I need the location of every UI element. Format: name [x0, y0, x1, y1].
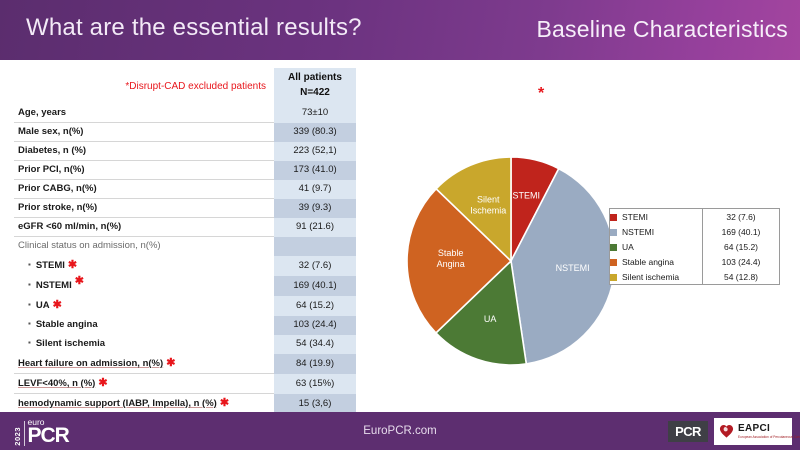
eapci-label: EAPCI	[738, 424, 800, 434]
row-label: Heart failure on admission, n(%) ✱	[14, 354, 274, 374]
row-label: Diabetes, n (%)	[14, 142, 274, 161]
baseline-characteristics-table: *Disrupt-CAD excluded patients All patie…	[14, 68, 356, 414]
footnote-asterisk-marker: *	[538, 86, 544, 102]
row-label: LEVF<40%, n (%) ✱	[14, 374, 274, 394]
row-label: Clinical status on admission, n(%)	[14, 237, 274, 256]
legend-row: NSTEMI169 (40.1)	[610, 224, 779, 239]
table-row: Stable angina103 (24.4)	[14, 316, 356, 335]
row-value: 103 (24.4)	[274, 316, 356, 335]
table-row: STEMI ✱32 (7.6)	[14, 256, 356, 276]
legend-value: 169 (40.1)	[703, 224, 780, 239]
legend-label-text: Silent ischemia	[622, 272, 679, 282]
row-value: 41 (9.7)	[274, 180, 356, 199]
pie-slice-label: NSTEMI	[556, 263, 590, 273]
table-header-row: *Disrupt-CAD excluded patients All patie…	[14, 68, 356, 104]
row-label-text: NSTEMI	[36, 280, 72, 291]
asterisk-icon: ✱	[65, 259, 77, 271]
row-label-text: UA	[36, 300, 50, 311]
row-value: 39 (9.3)	[274, 199, 356, 218]
row-value: 64 (15.2)	[274, 296, 356, 316]
row-label-text: hemodynamic support (IABP, Impella), n (…	[18, 398, 217, 409]
row-label: hemodynamic support (IABP, Impella), n (…	[14, 394, 274, 414]
row-label: STEMI ✱	[14, 256, 274, 276]
legend-swatch-icon	[610, 229, 617, 236]
legend-label-text: NSTEMI	[622, 227, 654, 237]
table-row: NSTEMI ✱169 (40.1)	[14, 276, 356, 296]
legend-swatch-icon	[610, 259, 617, 266]
table-row: Heart failure on admission, n(%) ✱84 (19…	[14, 354, 356, 374]
page-title: What are the essential results?	[26, 14, 362, 42]
legend-value: 103 (24.4)	[703, 254, 780, 269]
legend-row: STEMI32 (7.6)	[610, 209, 779, 224]
table-row: Male sex, n(%)339 (80.3)	[14, 123, 356, 142]
row-label-text: Prior PCI, n(%)	[18, 164, 85, 175]
legend-value: 64 (15.2)	[703, 239, 780, 254]
asterisk-icon: ✱	[72, 275, 84, 287]
excluded-patients-note: *Disrupt-CAD excluded patients	[14, 68, 274, 104]
pcr-partner-logo: PCR	[668, 421, 708, 442]
eapci-sublabel: European Association of Percutaneous Car…	[738, 436, 800, 439]
pcr-partner-label: PCR	[675, 424, 701, 439]
pie-legend: STEMI32 (7.6)NSTEMI169 (40.1)UA64 (15.2)…	[609, 208, 780, 285]
legend-label: STEMI	[610, 209, 703, 224]
legend-swatch-icon	[610, 274, 617, 281]
pie-legend-table: STEMI32 (7.6)NSTEMI169 (40.1)UA64 (15.2)…	[610, 209, 779, 284]
legend-label-text: UA	[622, 242, 634, 252]
row-label: Age, years	[14, 104, 274, 123]
row-label: Silent ischemia	[14, 335, 274, 354]
column-header-line2: N=422	[274, 86, 356, 101]
row-value: 32 (7.6)	[274, 256, 356, 276]
row-value: 84 (19.9)	[274, 354, 356, 374]
row-label-text: eGFR <60 ml/min, n(%)	[18, 221, 121, 232]
row-value	[274, 237, 356, 256]
legend-label: NSTEMI	[610, 224, 703, 239]
legend-row: UA64 (15.2)	[610, 239, 779, 254]
table-row: LEVF<40%, n (%) ✱63 (15%)	[14, 374, 356, 394]
row-value: 63 (15%)	[274, 374, 356, 394]
row-value: 15 (3,6)	[274, 394, 356, 414]
row-label: UA ✱	[14, 296, 274, 316]
table-row: Clinical status on admission, n(%)	[14, 237, 356, 256]
column-header-line1: All patients	[274, 71, 356, 86]
legend-label: UA	[610, 239, 703, 254]
row-value: 54 (34.4)	[274, 335, 356, 354]
slide-header: What are the essential results? Baseline…	[0, 0, 800, 60]
legend-label-text: Stable angina	[622, 257, 674, 267]
row-label-text: STEMI	[36, 260, 65, 271]
legend-label-text: STEMI	[622, 212, 648, 222]
header-subtitle: Baseline Characteristics	[536, 16, 788, 43]
row-value: 91 (21.6)	[274, 218, 356, 237]
row-value: 73±10	[274, 104, 356, 123]
row-label-text: Stable angina	[36, 319, 98, 330]
baseline-table-container: *Disrupt-CAD excluded patients All patie…	[14, 68, 344, 414]
legend-swatch-icon	[610, 214, 617, 221]
legend-label: Silent ischemia	[610, 269, 703, 284]
row-label-text: LEVF<40%, n (%)	[18, 378, 95, 389]
table-row: Prior PCI, n(%)173 (41.0)	[14, 161, 356, 180]
pie-slice-label: STEMI	[512, 190, 540, 200]
row-value: 223 (52,1)	[274, 142, 356, 161]
table-row: Age, years73±10	[14, 104, 356, 123]
table-row: UA ✱64 (15.2)	[14, 296, 356, 316]
row-label-text: Diabetes, n (%)	[18, 145, 86, 156]
table-row: eGFR <60 ml/min, n(%)91 (21.6)	[14, 218, 356, 237]
table-row: Diabetes, n (%)223 (52,1)	[14, 142, 356, 161]
legend-label: Stable angina	[610, 254, 703, 269]
row-label-text: Prior CABG, n(%)	[18, 183, 97, 194]
row-label-text: Male sex, n(%)	[18, 126, 83, 137]
row-label-text: Heart failure on admission, n(%)	[18, 358, 163, 369]
asterisk-icon: ✱	[95, 377, 107, 389]
row-value: 173 (41.0)	[274, 161, 356, 180]
row-label: Prior stroke, n(%)	[14, 199, 274, 218]
legend-row: Silent ischemia54 (12.8)	[610, 269, 779, 284]
pie-slice-label: StableAngina	[437, 248, 465, 269]
table-row: Silent ischemia54 (34.4)	[14, 335, 356, 354]
row-value: 339 (80.3)	[274, 123, 356, 142]
row-label: NSTEMI ✱	[14, 276, 274, 296]
row-label-text: Prior stroke, n(%)	[18, 202, 97, 213]
row-label: Prior PCI, n(%)	[14, 161, 274, 180]
slide-footer: 2023 euro PCR EuroPCR.com PCR EAPCI Euro…	[0, 412, 800, 450]
row-label-text: Clinical status on admission, n(%)	[18, 240, 161, 251]
row-label-text: Silent ischemia	[36, 338, 105, 349]
column-header-all-patients: All patients N=422	[274, 68, 356, 104]
heart-icon	[719, 424, 734, 439]
legend-swatch-icon	[610, 244, 617, 251]
table-row: hemodynamic support (IABP, Impella), n (…	[14, 394, 356, 414]
legend-value: 32 (7.6)	[703, 209, 780, 224]
asterisk-icon: ✱	[163, 357, 175, 369]
row-label-text: Age, years	[18, 107, 66, 118]
row-label: eGFR <60 ml/min, n(%)	[14, 218, 274, 237]
legend-value: 54 (12.8)	[703, 269, 780, 284]
table-row: Prior CABG, n(%)41 (9.7)	[14, 180, 356, 199]
legend-row: Stable angina103 (24.4)	[610, 254, 779, 269]
row-label: Prior CABG, n(%)	[14, 180, 274, 199]
asterisk-icon: ✱	[217, 397, 229, 409]
pie-slice-label: UA	[484, 314, 497, 324]
table-row: Prior stroke, n(%)39 (9.3)	[14, 199, 356, 218]
clinical-status-pie-chart: STEMINSTEMIUAStableAnginaSilentIschemia	[398, 148, 624, 374]
row-value: 169 (40.1)	[274, 276, 356, 296]
row-label: Stable angina	[14, 316, 274, 335]
pie-svg: STEMINSTEMIUAStableAnginaSilentIschemia	[398, 148, 624, 374]
row-label: Male sex, n(%)	[14, 123, 274, 142]
asterisk-icon: ✱	[50, 299, 62, 311]
eapci-partner-logo: EAPCI European Association of Percutaneo…	[714, 418, 792, 445]
